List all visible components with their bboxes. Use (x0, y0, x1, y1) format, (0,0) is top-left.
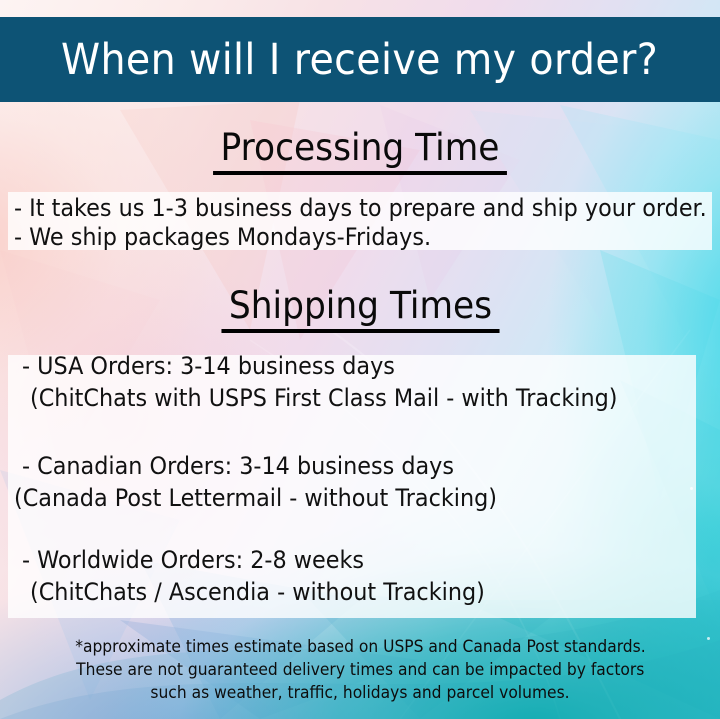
page-title: When will I receive my order? (61, 35, 658, 85)
shipping-worldwide-line-1: - Worldwide Orders: 2-8 weeks (22, 546, 364, 574)
section-heading-processing-time: Processing Time (0, 126, 720, 175)
footer-disclaimer-line-2: These are not guaranteed delivery times … (0, 660, 720, 679)
footer-disclaimer-line-3-text: such as weather, traffic, holidays and p… (150, 683, 569, 702)
shipping-worldwide-line-2: (ChitChats / Ascendia - without Tracking… (30, 578, 485, 606)
footer-disclaimer-line-1: *approximate times estimate based on USP… (0, 637, 720, 656)
shipping-usa-line-1: - USA Orders: 3-14 business days (22, 352, 395, 380)
shipping-canadian-line-1: - Canadian Orders: 3-14 business days (22, 452, 454, 480)
header-banner: When will I receive my order? (0, 17, 720, 102)
processing-time-line-1: - It takes us 1-3 business days to prepa… (14, 194, 707, 222)
shipping-usa-line-2: (ChitChats with USPS First Class Mail - … (30, 384, 617, 412)
section-heading-shipping-times-text: Shipping Times (221, 284, 499, 333)
processing-time-line-2: - We ship packages Mondays-Fridays. (14, 223, 431, 251)
footer-disclaimer-line-1-text: *approximate times estimate based on USP… (75, 637, 645, 656)
poster-root: When will I receive my order? Processing… (0, 0, 720, 719)
section-heading-shipping-times: Shipping Times (0, 284, 720, 333)
section-heading-processing-time-text: Processing Time (213, 126, 507, 175)
shipping-canadian-line-2: (Canada Post Lettermail - without Tracki… (14, 484, 497, 512)
footer-disclaimer-line-3: such as weather, traffic, holidays and p… (0, 683, 720, 702)
footer-disclaimer-line-2-text: These are not guaranteed delivery times … (76, 660, 644, 679)
